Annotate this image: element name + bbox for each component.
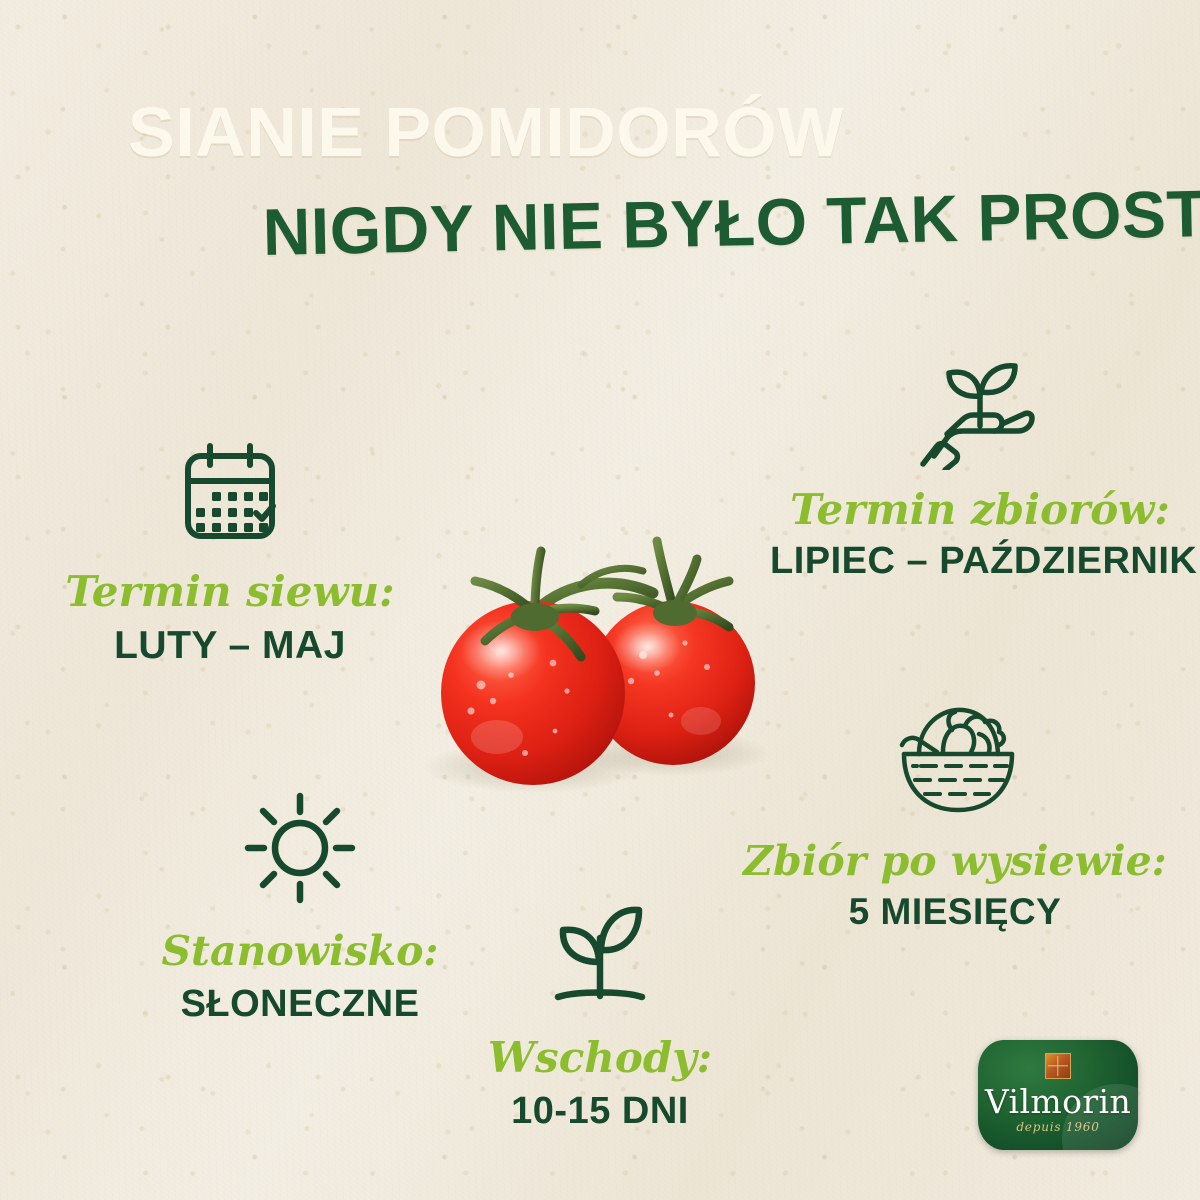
tomatoes-on-vine-photo — [385, 515, 785, 805]
fact-sowing-date: Termin siewu: LUTY – MAJ — [20, 440, 440, 668]
infographic-poster: SIANIE POMIDORÓW NIGDY NIE BYŁO TAK PROS… — [0, 0, 1200, 1200]
fact-germination: Wschody: 10-15 DNI — [450, 900, 750, 1133]
seedling-icon — [450, 900, 750, 1017]
headline-banner-top — [0, 0, 616, 106]
hand-sprout-icon — [770, 352, 1190, 475]
fact-sowing-value: LUTY – MAJ — [20, 624, 440, 668]
vilmorin-logo[interactable]: Vilmorin depuis 1960 — [978, 1040, 1138, 1150]
fact-basket-label: Zbiór po wysiewie: — [740, 837, 1170, 885]
fact-position: Stanowisko: SŁONECZNE — [110, 792, 490, 1026]
fact-sprout-value: 10-15 DNI — [450, 1090, 750, 1133]
fact-basket-value: 5 MIESIĘCY — [740, 891, 1170, 933]
fact-harvest-value: LIPIEC – PAŹDZIERNIK — [770, 540, 1190, 583]
vilmorin-wordmark: Vilmorin — [978, 1082, 1138, 1121]
fact-sprout-label: Wschody: — [450, 1033, 750, 1082]
fact-harvest-label: Termin zbiorów: — [770, 485, 1190, 534]
sun-icon — [110, 792, 490, 909]
fact-harvest-date: Termin zbiorów: LIPIEC – PAŹDZIERNIK — [770, 352, 1190, 583]
vilmorin-crest-icon — [1045, 1053, 1071, 1079]
fact-position-value: SŁONECZNE — [110, 983, 490, 1026]
fact-position-label: Stanowisko: — [110, 927, 490, 975]
fact-sowing-label: Termin siewu: — [20, 567, 440, 616]
fact-harvest-after-sowing: Zbiór po wysiewie: 5 MIESIĘCY — [740, 700, 1170, 933]
calendar-check-icon — [20, 440, 440, 553]
vilmorin-tagline: depuis 1960 — [978, 1120, 1138, 1134]
headline-line-1: SIANIE POMIDORÓW — [128, 92, 844, 172]
vegetable-basket-icon — [740, 700, 1170, 823]
